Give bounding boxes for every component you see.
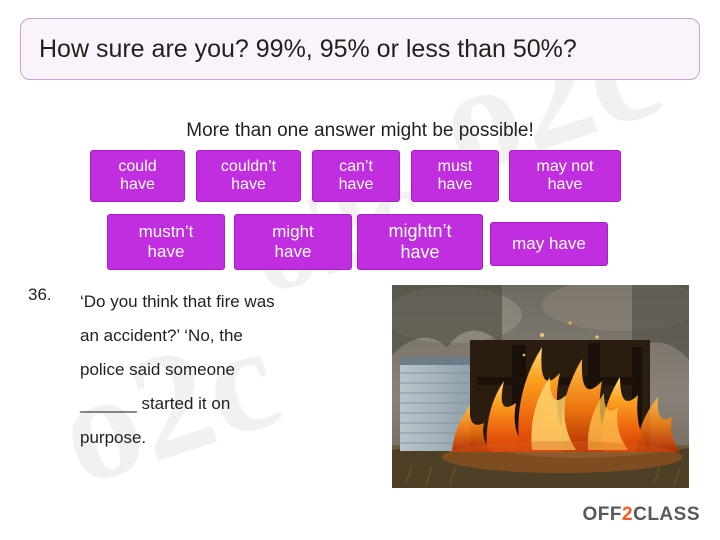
chip-label: can’thave (339, 158, 374, 195)
question-line-4: ______ started it on (80, 394, 230, 413)
page-title: How sure are you? 99%, 95% or less than … (21, 35, 577, 64)
title-box: How sure are you? 99%, 95% or less than … (20, 18, 700, 80)
answer-chip-may-not-have[interactable]: may nothave (509, 150, 621, 202)
fire-photo-image (392, 285, 689, 488)
answer-chip-cant-have[interactable]: can’thave (312, 150, 400, 202)
question-line-3: police said someone (80, 360, 235, 379)
off2class-logo: OFF2CLASS (583, 504, 700, 526)
logo-part-two: 2 (622, 504, 633, 525)
chip-label: mustn’thave (139, 222, 194, 261)
question-line-5: purpose. (80, 428, 146, 447)
question-line-2: an accident?’ ‘No, the (80, 326, 243, 345)
fire-photo (392, 285, 689, 488)
chip-label: musthave (438, 158, 473, 195)
logo-part-class: CLASS (633, 504, 700, 525)
answer-chip-might-have[interactable]: mighthave (234, 214, 352, 270)
question-number: 36. (28, 285, 52, 305)
answer-chip-must-have[interactable]: musthave (411, 150, 499, 202)
logo-part-off: OFF (583, 504, 623, 525)
question-line-1: ‘Do you think that fire was (80, 292, 275, 311)
chip-label: couldhave (118, 158, 156, 195)
slide: o2c o2c o2c How sure are you? 99%, 95% o… (0, 0, 720, 540)
question-text: ‘Do you think that fire was an accident?… (80, 285, 380, 455)
subtitle: More than one answer might be possible! (0, 120, 720, 142)
chip-label: mighthave (272, 222, 314, 261)
answer-chip-mustnt-have[interactable]: mustn’thave (107, 214, 225, 270)
chip-label: mightn’thave (388, 221, 451, 262)
chip-label: couldn’thave (221, 158, 276, 195)
answer-chip-could-have[interactable]: couldhave (90, 150, 185, 202)
answer-chip-couldnt-have[interactable]: couldn’thave (196, 150, 301, 202)
answer-chip-may-have[interactable]: may have (490, 222, 608, 266)
chip-label: may nothave (537, 158, 594, 195)
chip-label: may have (512, 234, 586, 254)
answer-chip-mightnt-have[interactable]: mightn’thave (357, 214, 483, 270)
